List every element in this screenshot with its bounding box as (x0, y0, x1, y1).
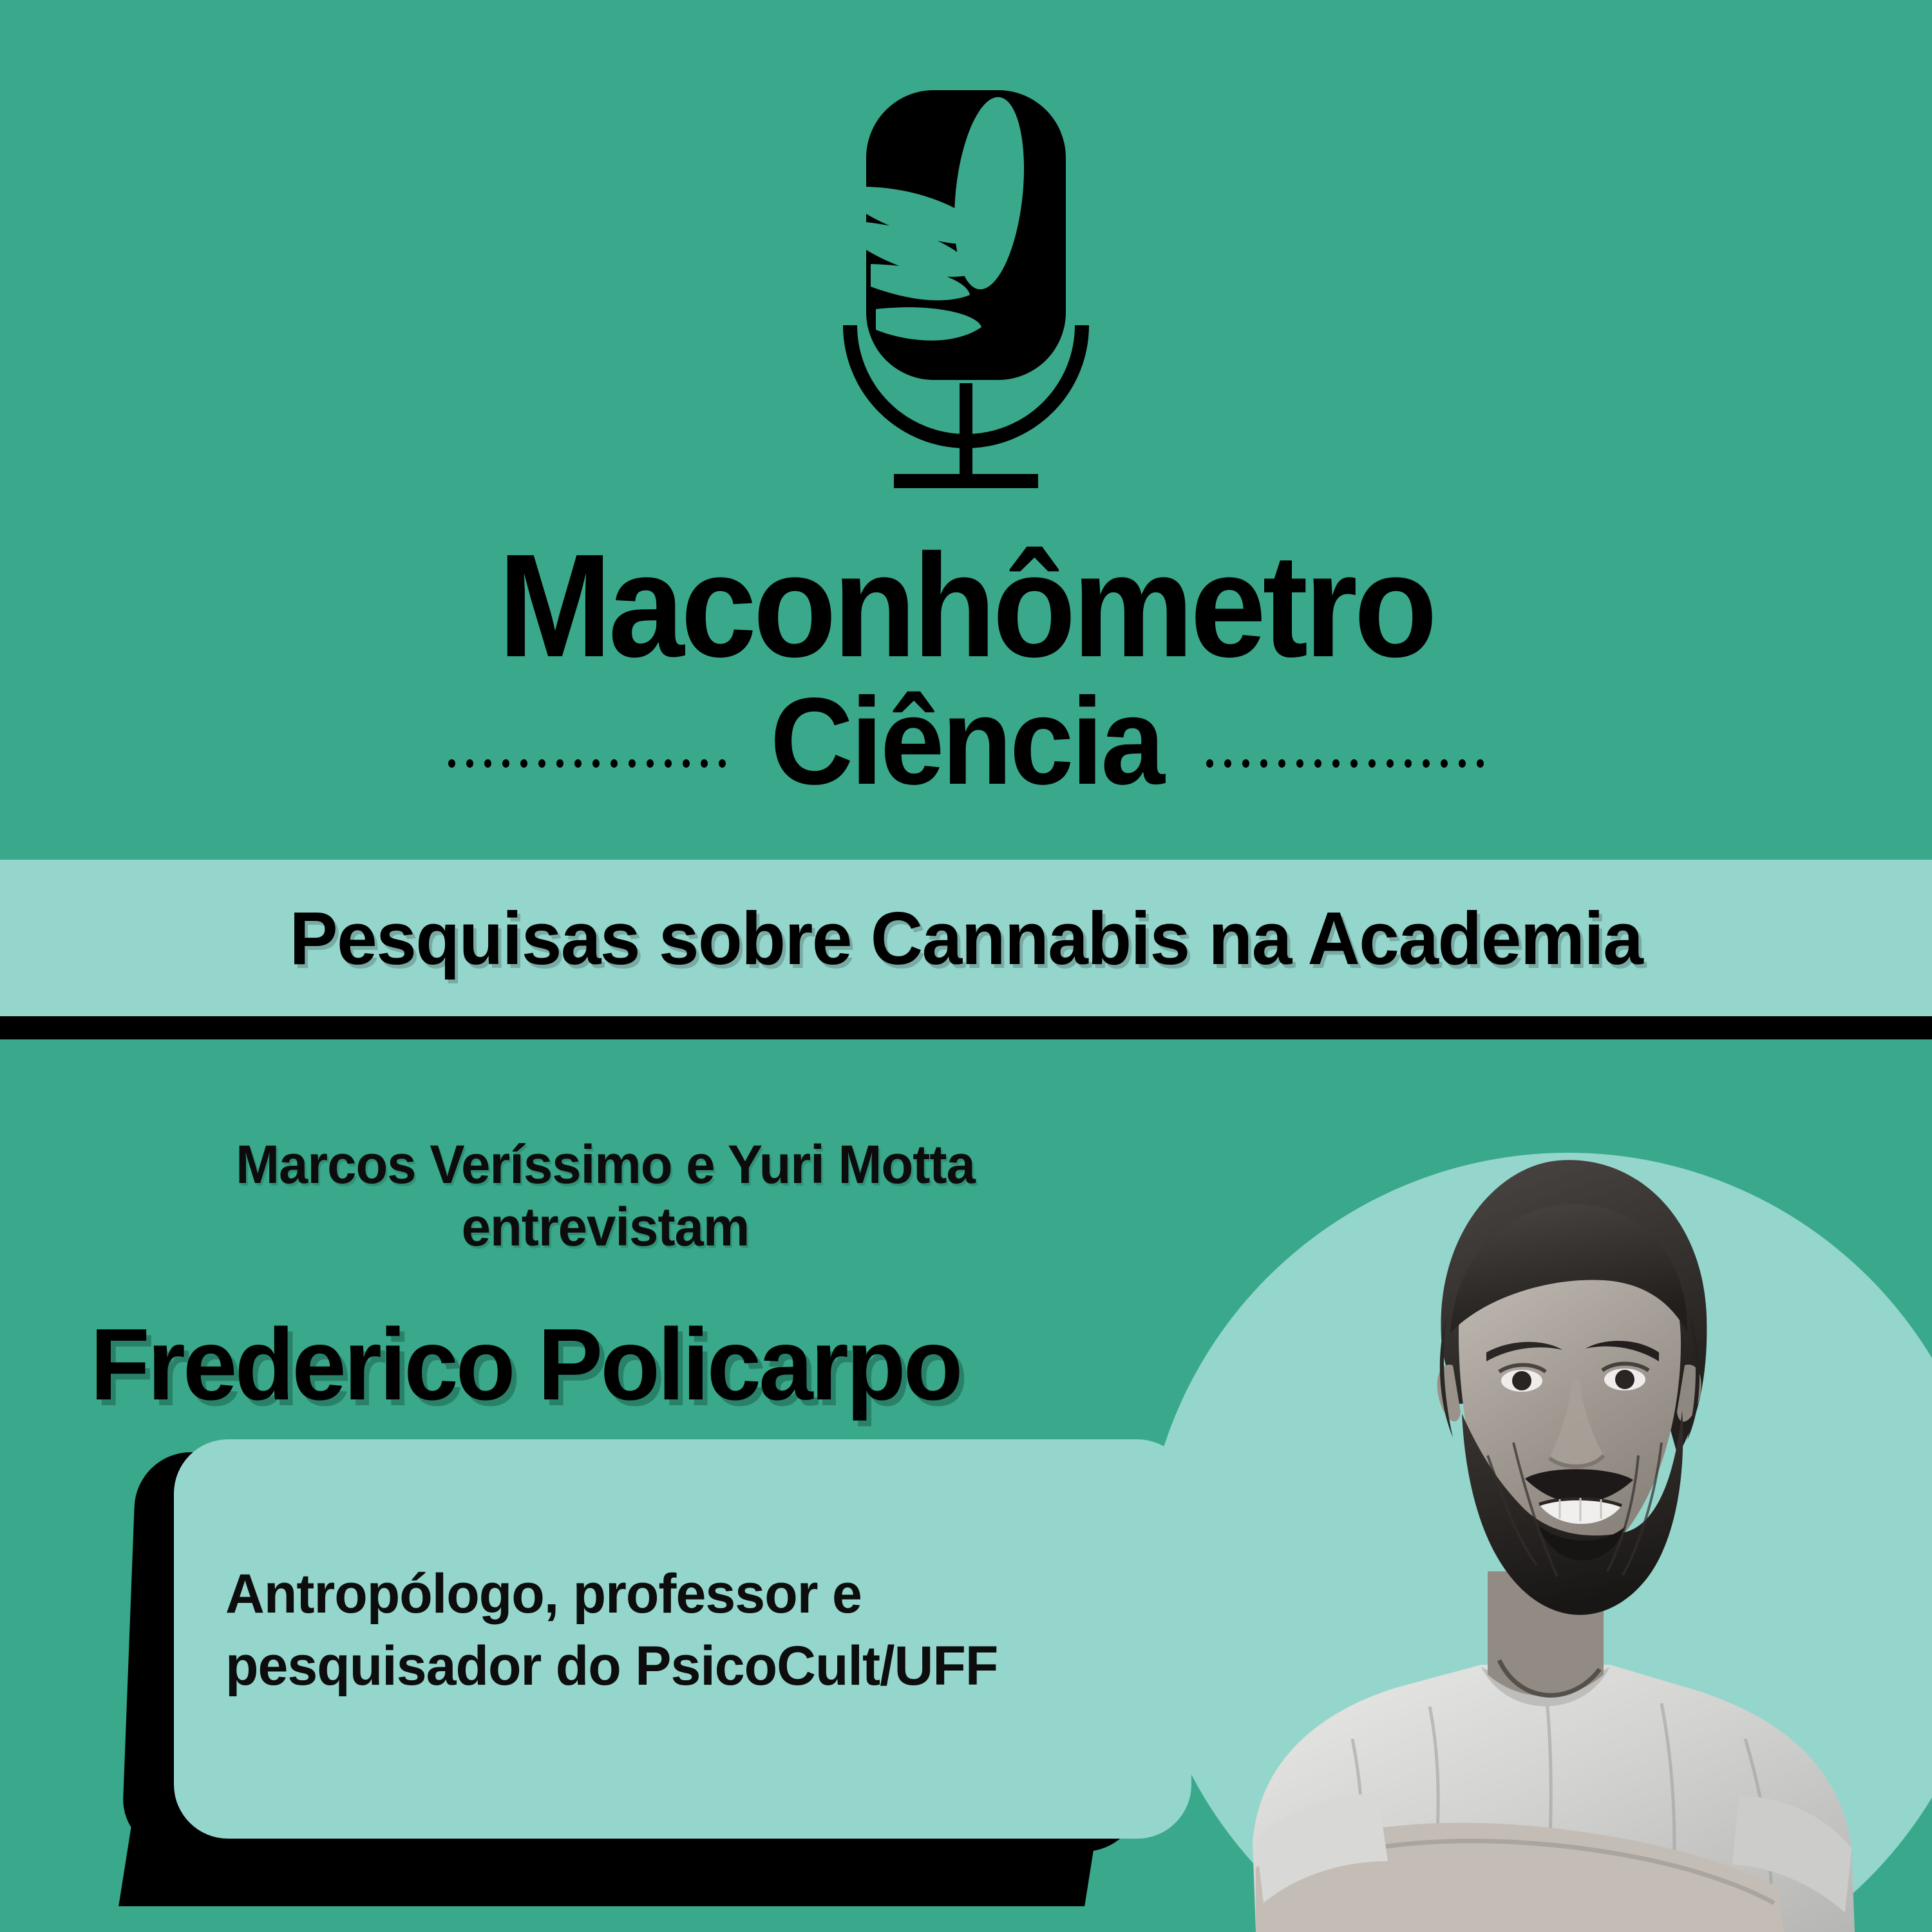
rule-dot (484, 759, 491, 768)
brand-subtitle-row: Ciência (0, 679, 1932, 810)
rule-dot (1206, 759, 1213, 768)
rule-dot (647, 759, 654, 768)
rule-dot (611, 759, 618, 768)
rule-dot (1423, 759, 1430, 768)
hosts-line: Marcos Veríssimo e Yuri Motta entrevista… (93, 1133, 1118, 1259)
header-logo-block: Maconhômetro Ciência (0, 0, 1932, 860)
rule-dot (701, 759, 708, 768)
rule-dot (683, 759, 690, 768)
dotted-rule-left (448, 759, 726, 768)
rule-dot (466, 759, 473, 768)
guest-name: Frederico Policarpo (90, 1314, 1191, 1416)
hosts-line-1: Marcos Veríssimo e Yuri Motta (93, 1133, 1118, 1196)
dotted-rule-right (1206, 759, 1484, 768)
rule-dot (520, 759, 527, 768)
rule-dot (1350, 759, 1358, 768)
rule-dot (1314, 759, 1321, 768)
rule-dot (1477, 759, 1484, 768)
rule-dot (1278, 759, 1285, 768)
episode-theme-banner: Pesquisas sobre Cannabis na Academia (0, 860, 1932, 1016)
cannabis-microphone-icon (831, 90, 1101, 528)
rule-dot (1224, 759, 1231, 768)
rule-dot (538, 759, 545, 768)
guest-portrait (1095, 1121, 1932, 1932)
rule-dot (448, 759, 455, 768)
rule-dot (1459, 759, 1466, 768)
rule-dot (1441, 759, 1448, 768)
brand-title: Maconhômetro (68, 535, 1864, 678)
rule-dot (1296, 759, 1303, 768)
rule-dot (1405, 759, 1412, 768)
banner-divider-rule (0, 1016, 1932, 1039)
episode-theme-text: Pesquisas sobre Cannabis na Academia (290, 895, 1643, 981)
rule-dot (1242, 759, 1249, 768)
guest-role-line-1: Antropólogo, professor e (225, 1558, 1122, 1631)
guest-role-line-2: pesquisador do PsicoCult/UFF (225, 1631, 1122, 1703)
rule-dot (556, 759, 563, 768)
rule-dot (719, 759, 726, 768)
rule-dot (665, 759, 672, 768)
guest-role-text: Antropólogo, professor e pesquisador do … (225, 1558, 1122, 1703)
rule-dot (1368, 759, 1376, 768)
rule-dot (1260, 759, 1267, 768)
rule-dot (1332, 759, 1340, 768)
rule-dot (629, 759, 636, 768)
podcast-cover: Maconhômetro Ciência Pesquisas sobre Can… (0, 0, 1932, 1932)
rule-dot (592, 759, 600, 768)
rule-dot (502, 759, 509, 768)
hosts-line-2: entrevistam (93, 1196, 1118, 1258)
rule-dot (574, 759, 582, 768)
brand-subtitle: Ciência (770, 679, 1162, 810)
rule-dot (1387, 759, 1394, 768)
